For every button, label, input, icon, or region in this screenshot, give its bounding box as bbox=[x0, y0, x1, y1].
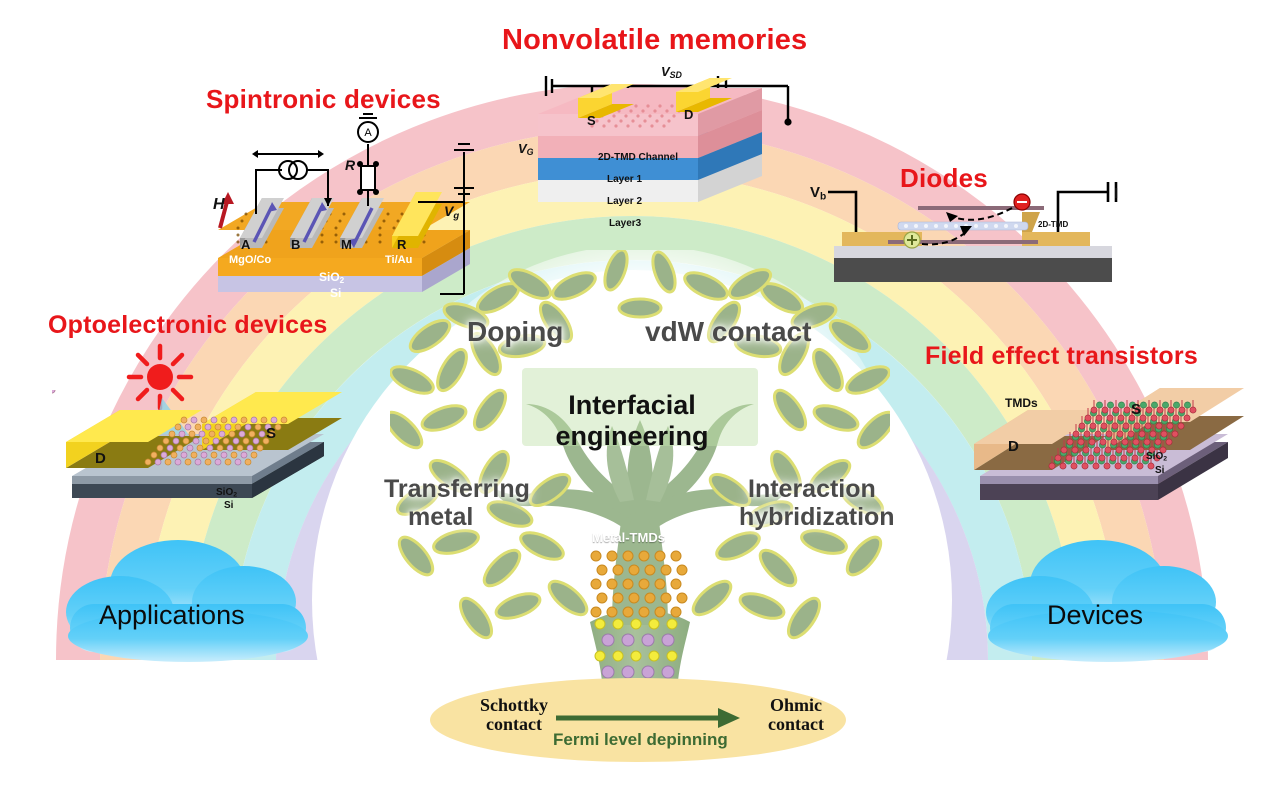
oval-label-schottky-line1: Schottky bbox=[464, 696, 564, 715]
label-mgo-co: MgO/Co bbox=[229, 254, 271, 266]
label-spintronic-sio2: SiO2 bbox=[319, 270, 344, 285]
branch-label-transferring-metal-line1: Transferring bbox=[384, 475, 530, 504]
label-spintronic-si: Si bbox=[330, 286, 341, 300]
label-opto-sio2: SiO2 bbox=[216, 487, 237, 499]
oval-label-schottky-line2: contact bbox=[464, 715, 564, 734]
label-electrode-a: A bbox=[241, 237, 250, 252]
label-vsd: VSD bbox=[661, 64, 682, 80]
label-memory-drain: D bbox=[684, 107, 693, 122]
branch-label-transferring-metal-line2: metal bbox=[408, 503, 473, 532]
heading-optoelectronic-devices: Optoelectronic devices bbox=[48, 311, 328, 340]
device-nonvolatile-memory bbox=[500, 62, 810, 227]
label-layer2: Layer 2 bbox=[607, 196, 642, 207]
device-fet bbox=[960, 388, 1250, 516]
label-layer3: Layer3 bbox=[609, 218, 641, 229]
label-fet-sio2: SiO2 bbox=[1146, 451, 1167, 463]
oval-label-ohmic-line1: Ohmic bbox=[746, 696, 846, 715]
branch-label-vdw-contact: vdW contact bbox=[645, 316, 811, 348]
label-2d-tmd-channel: 2D-TMD Channel bbox=[598, 152, 678, 163]
label-electrode-b: B bbox=[291, 237, 300, 252]
svg-text:A: A bbox=[364, 127, 372, 139]
label-resistor-r: R bbox=[345, 157, 355, 173]
trunk-label-metal-tmds: Metal-TMDs bbox=[592, 530, 665, 545]
core-label-line1: Interfacial bbox=[522, 390, 742, 420]
cloud-label-devices: Devices bbox=[1047, 600, 1143, 631]
label-memory-source: S bbox=[587, 113, 596, 128]
label-diode-2d-tmd: 2D-TMD bbox=[1038, 220, 1068, 229]
core-label-line2: engineering bbox=[522, 421, 742, 451]
oval-label-ohmic-line2: contact bbox=[746, 715, 846, 734]
label-fet-tmds: TMDs bbox=[1005, 396, 1038, 410]
cloud-label-applications: Applications bbox=[99, 600, 245, 631]
label-fet-si: Si bbox=[1155, 465, 1164, 476]
branch-label-interaction-line1: Interaction bbox=[748, 475, 876, 504]
label-current-i-diode: I bbox=[1114, 185, 1118, 202]
branch-label-doping: Doping bbox=[467, 316, 563, 348]
branch-label-interaction-line2: hybridization bbox=[739, 503, 895, 532]
fermi-level-depinning-label: Fermi level depinning bbox=[553, 730, 728, 750]
label-opto-drain: D bbox=[95, 450, 106, 467]
label-vg-memory: VG bbox=[518, 141, 534, 157]
label-vb-diode: Vb bbox=[810, 184, 826, 203]
heading-nonvolatile-memories: Nonvolatile memories bbox=[502, 24, 807, 57]
label-vg-spintronic: Vg bbox=[444, 203, 459, 221]
device-diode bbox=[826, 178, 1126, 288]
label-fet-drain: D bbox=[1008, 438, 1019, 455]
label-layer1: Layer 1 bbox=[607, 174, 642, 185]
label-magnetic-field-h: H bbox=[213, 196, 225, 214]
label-electrode-r: R bbox=[397, 237, 406, 252]
label-electrode-m: M bbox=[341, 237, 352, 252]
label-fet-source: S bbox=[1131, 401, 1141, 418]
figure-canvas: Applications Devices bbox=[0, 0, 1264, 785]
heading-field-effect-transistors: Field effect transistors bbox=[925, 342, 1198, 371]
label-ti-au: Ti/Au bbox=[385, 254, 412, 266]
label-opto-source: S bbox=[266, 425, 276, 442]
label-opto-si: Si bbox=[224, 500, 233, 511]
